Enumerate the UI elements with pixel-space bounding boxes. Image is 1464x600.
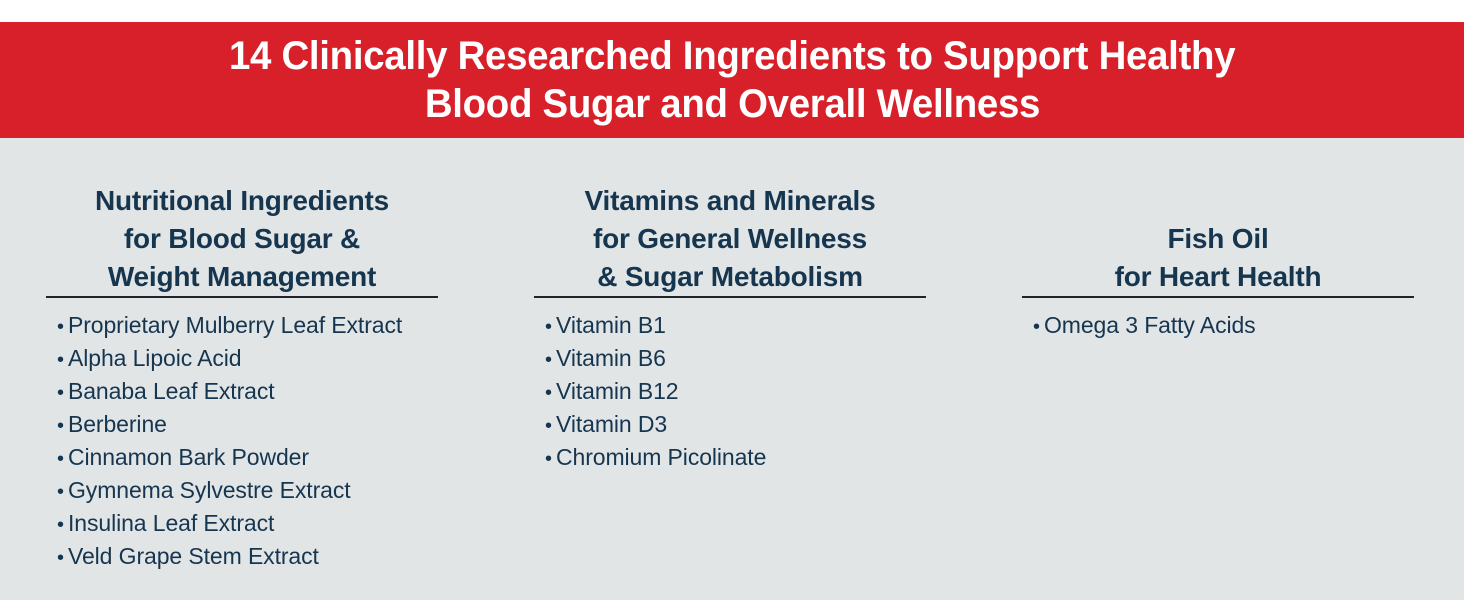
list-item: •Vitamin B12	[545, 376, 926, 409]
heading-line: for General Wellness	[534, 220, 926, 258]
ingredient-list-vitamins: •Vitamin B1 •Vitamin B6 •Vitamin B12 •Vi…	[545, 310, 926, 475]
bullet-icon: •	[57, 345, 68, 376]
column-divider	[46, 296, 438, 298]
bullet-icon: •	[57, 378, 68, 409]
list-item-label: Vitamin D3	[556, 409, 667, 440]
list-item-label: Berberine	[68, 409, 167, 440]
list-item-label: Veld Grape Stem Extract	[68, 541, 319, 572]
list-item: •Proprietary Mulberry Leaf Extract	[57, 310, 438, 343]
heading-line: Fish Oil	[1022, 220, 1414, 258]
list-item: •Vitamin D3	[545, 409, 926, 442]
list-item: •Vitamin B1	[545, 310, 926, 343]
heading-line: Vitamins and Minerals	[534, 182, 926, 220]
ingredient-columns: Nutritional Ingredients for Blood Sugar …	[0, 138, 1464, 600]
headline-line-1: 14 Clinically Researched Ingredients to …	[229, 32, 1235, 80]
headline-line-2: Blood Sugar and Overall Wellness	[424, 80, 1039, 128]
list-item-label: Chromium Picolinate	[556, 442, 766, 473]
list-item-label: Alpha Lipoic Acid	[68, 343, 241, 374]
bullet-icon: •	[545, 378, 556, 409]
column-heading-wrap: Vitamins and Minerals for General Wellne…	[534, 138, 926, 296]
ingredient-list-nutritional: •Proprietary Mulberry Leaf Extract •Alph…	[57, 310, 438, 574]
bullet-icon: •	[57, 477, 68, 508]
list-item: •Chromium Picolinate	[545, 442, 926, 475]
heading-line: Weight Management	[46, 258, 438, 296]
column-divider	[1022, 296, 1414, 298]
heading-line: for Blood Sugar &	[46, 220, 438, 258]
list-item-label: Proprietary Mulberry Leaf Extract	[68, 310, 402, 341]
bullet-icon: •	[57, 312, 68, 343]
list-item-label: Cinnamon Bark Powder	[68, 442, 309, 473]
list-item: •Insulina Leaf Extract	[57, 508, 438, 541]
ingredients-infographic: 14 Clinically Researched Ingredients to …	[0, 0, 1464, 600]
list-item: •Gymnema Sylvestre Extract	[57, 475, 438, 508]
list-item: •Alpha Lipoic Acid	[57, 343, 438, 376]
bullet-icon: •	[57, 543, 68, 574]
list-item-label: Vitamin B1	[556, 310, 666, 341]
bullet-icon: •	[1033, 312, 1044, 343]
list-item: •Cinnamon Bark Powder	[57, 442, 438, 475]
list-item: •Berberine	[57, 409, 438, 442]
list-item: •Banaba Leaf Extract	[57, 376, 438, 409]
top-white-strip	[0, 0, 1464, 22]
heading-line: Nutritional Ingredients	[46, 182, 438, 220]
list-item: •Omega 3 Fatty Acids	[1033, 310, 1414, 343]
headline-banner: 14 Clinically Researched Ingredients to …	[0, 22, 1464, 138]
bullet-icon: •	[545, 411, 556, 442]
column-heading-nutritional: Nutritional Ingredients for Blood Sugar …	[46, 182, 438, 296]
bullet-icon: •	[57, 510, 68, 541]
ingredient-list-fish-oil: •Omega 3 Fatty Acids	[1033, 310, 1414, 343]
list-item-label: Omega 3 Fatty Acids	[1044, 310, 1256, 341]
list-item: •Veld Grape Stem Extract	[57, 541, 438, 574]
heading-line: & Sugar Metabolism	[534, 258, 926, 296]
column-heading-wrap: Fish Oil for Heart Health	[1022, 138, 1414, 296]
bullet-icon: •	[545, 345, 556, 376]
column-heading-wrap: Nutritional Ingredients for Blood Sugar …	[46, 138, 438, 296]
list-item-label: Insulina Leaf Extract	[68, 508, 274, 539]
bullet-icon: •	[545, 312, 556, 343]
list-item-label: Vitamin B6	[556, 343, 666, 374]
list-item-label: Banaba Leaf Extract	[68, 376, 275, 407]
list-item-label: Gymnema Sylvestre Extract	[68, 475, 351, 506]
bullet-icon: •	[57, 444, 68, 475]
list-item: •Vitamin B6	[545, 343, 926, 376]
heading-line: for Heart Health	[1022, 258, 1414, 296]
bullet-icon: •	[57, 411, 68, 442]
column-divider	[534, 296, 926, 298]
list-item-label: Vitamin B12	[556, 376, 679, 407]
column-heading-fish-oil: Fish Oil for Heart Health	[1022, 220, 1414, 296]
bullet-icon: •	[545, 444, 556, 475]
column-heading-vitamins: Vitamins and Minerals for General Wellne…	[534, 182, 926, 296]
